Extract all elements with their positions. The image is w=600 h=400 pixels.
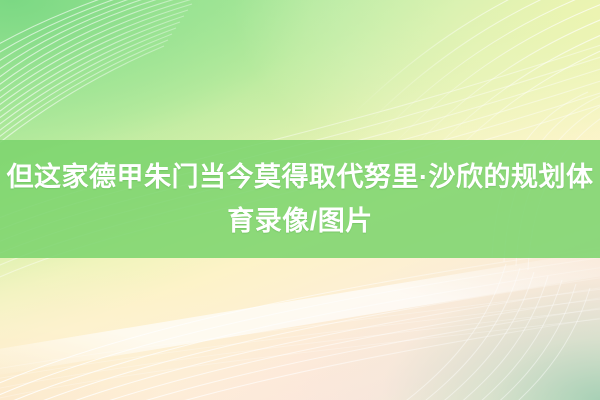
headline-band: 但这家德甲朱门当今莫得取代努里·沙欣的规划体 育录像/图片	[0, 140, 600, 258]
headline-line-2: 育录像/图片	[227, 199, 373, 243]
banner-graphic: 但这家德甲朱门当今莫得取代努里·沙欣的规划体 育录像/图片	[0, 0, 600, 400]
headline-line-1: 但这家德甲朱门当今莫得取代努里·沙欣的规划体	[7, 155, 594, 199]
